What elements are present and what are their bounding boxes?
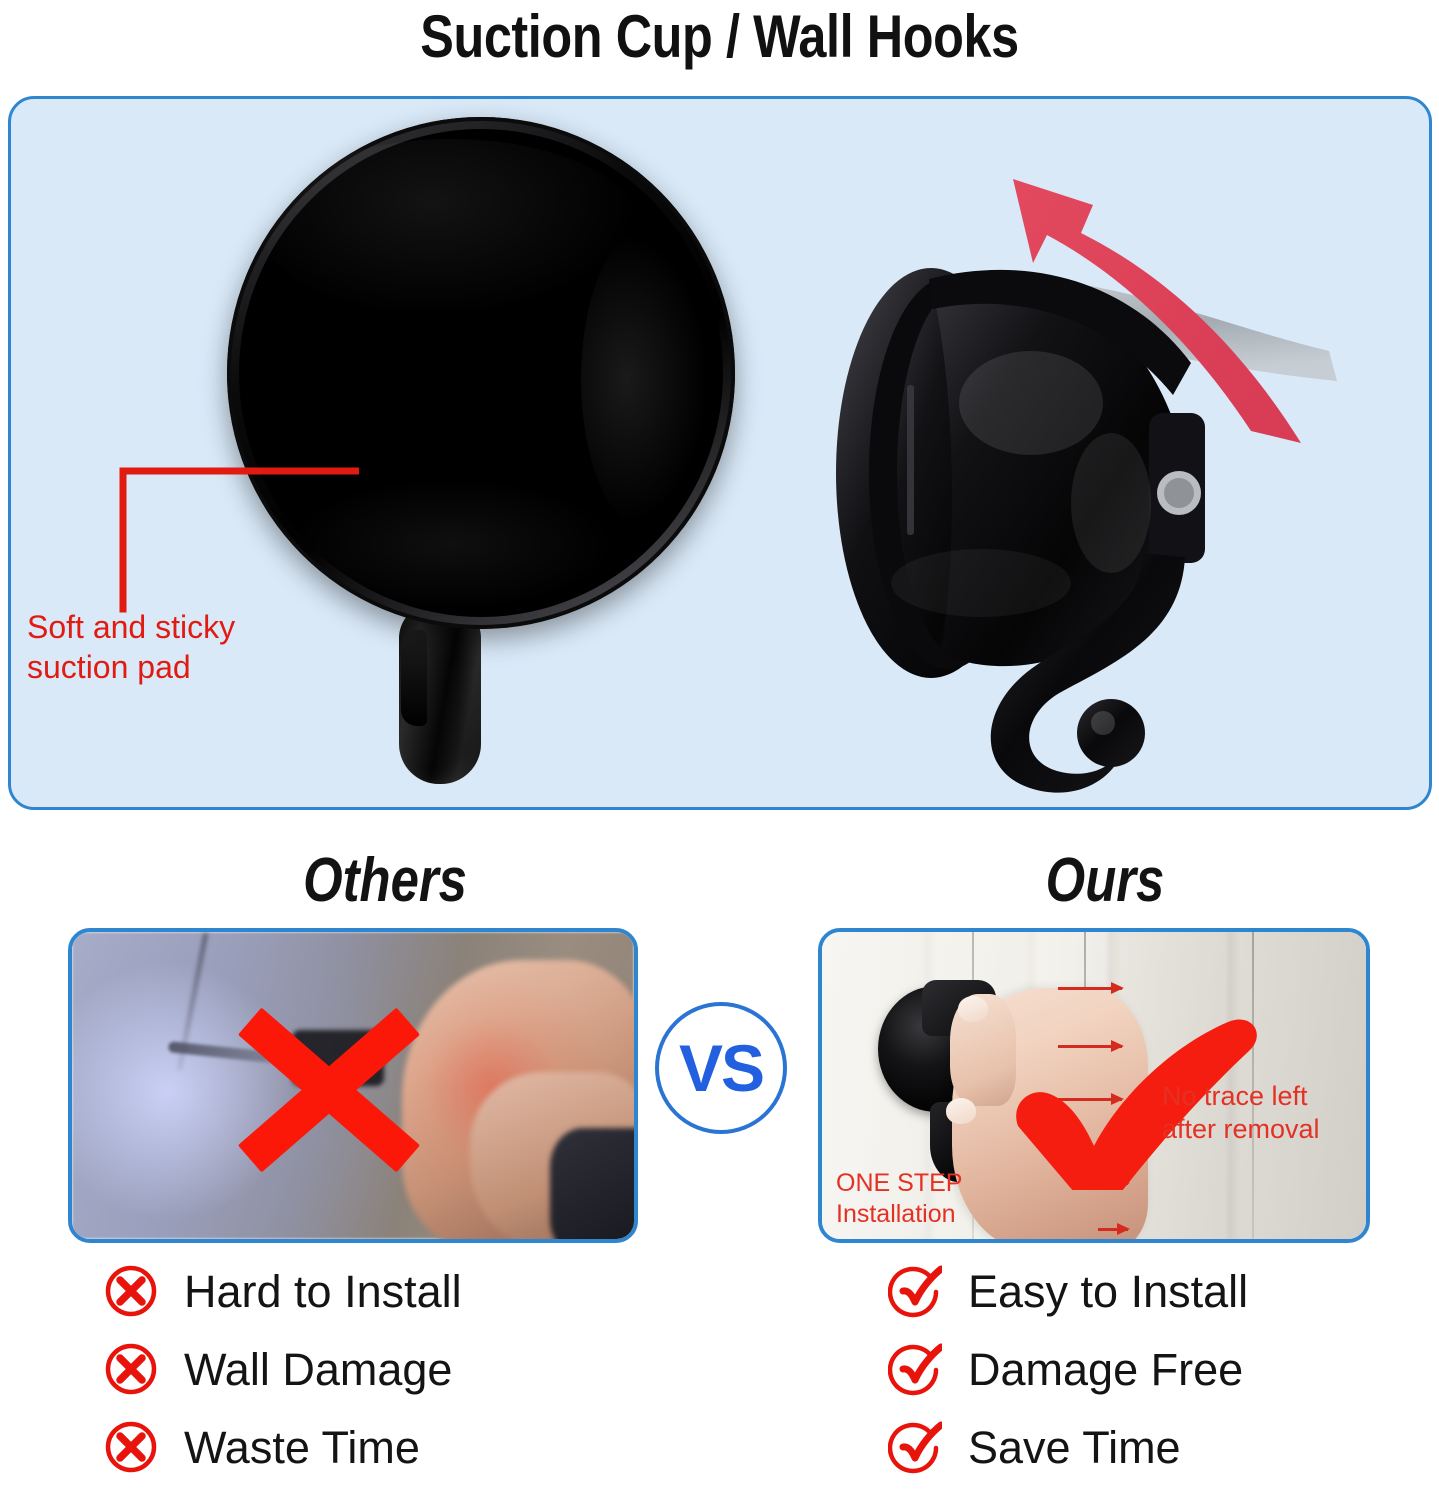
suction-pad-callout: Soft and sticky suction pad xyxy=(27,607,327,688)
callout-line-2: suction pad xyxy=(27,647,327,687)
hook-tip-ball xyxy=(1077,699,1145,767)
others-sleeve xyxy=(550,1128,638,1243)
others-hook-object xyxy=(292,1030,384,1086)
callout-line-1: Soft and sticky xyxy=(27,607,327,647)
ours-fingernail-lower xyxy=(946,1098,976,1124)
list-item-label: Wall Damage xyxy=(184,1347,452,1392)
ours-feature-list: Easy to Install Damage Free Save Time xyxy=(888,1252,1248,1486)
hero-product-panel: Soft and sticky suction pad xyxy=(8,96,1432,810)
circle-x-icon xyxy=(104,1420,158,1474)
circle-x-icon xyxy=(104,1264,158,1318)
list-item: Easy to Install xyxy=(888,1252,1248,1330)
list-item: Save Time xyxy=(888,1408,1248,1486)
side-view-illustration xyxy=(781,113,1341,809)
others-photo-panel xyxy=(68,928,638,1243)
ours-heading: Ours xyxy=(912,845,1297,916)
list-item: Waste Time xyxy=(104,1408,462,1486)
others-heading: Others xyxy=(192,845,577,916)
circle-check-icon xyxy=(888,1342,942,1396)
circle-check-icon xyxy=(888,1420,942,1474)
front-hook-shape xyxy=(399,604,481,784)
list-item: Damage Free xyxy=(888,1330,1248,1408)
circle-check-icon xyxy=(888,1264,942,1318)
vs-badge: VS xyxy=(655,1002,787,1134)
ours-fingernail-upper xyxy=(958,996,988,1022)
others-feature-list: Hard to Install Wall Damage Waste Time xyxy=(104,1252,462,1486)
list-item: Hard to Install xyxy=(104,1252,462,1330)
ours-photo-panel: No trace left after removal ONE STEP Ins… xyxy=(818,928,1370,1243)
list-item-label: Hard to Install xyxy=(184,1269,462,1314)
list-item-label: Easy to Install xyxy=(968,1269,1248,1314)
vs-label: VS xyxy=(679,1035,763,1101)
list-item-label: Damage Free xyxy=(968,1347,1243,1392)
vent-ribs xyxy=(907,385,914,535)
list-item: Wall Damage xyxy=(104,1330,462,1408)
list-item-label: Waste Time xyxy=(184,1425,420,1470)
product-infographic: Suction Cup / Wall Hooks Soft and sticky… xyxy=(0,0,1439,1500)
circle-x-icon xyxy=(104,1342,158,1396)
suction-disc xyxy=(227,117,735,629)
product-side-view xyxy=(781,113,1341,809)
page-title: Suction Cup / Wall Hooks xyxy=(115,2,1324,71)
list-item-label: Save Time xyxy=(968,1425,1181,1470)
product-front-view xyxy=(201,109,761,809)
